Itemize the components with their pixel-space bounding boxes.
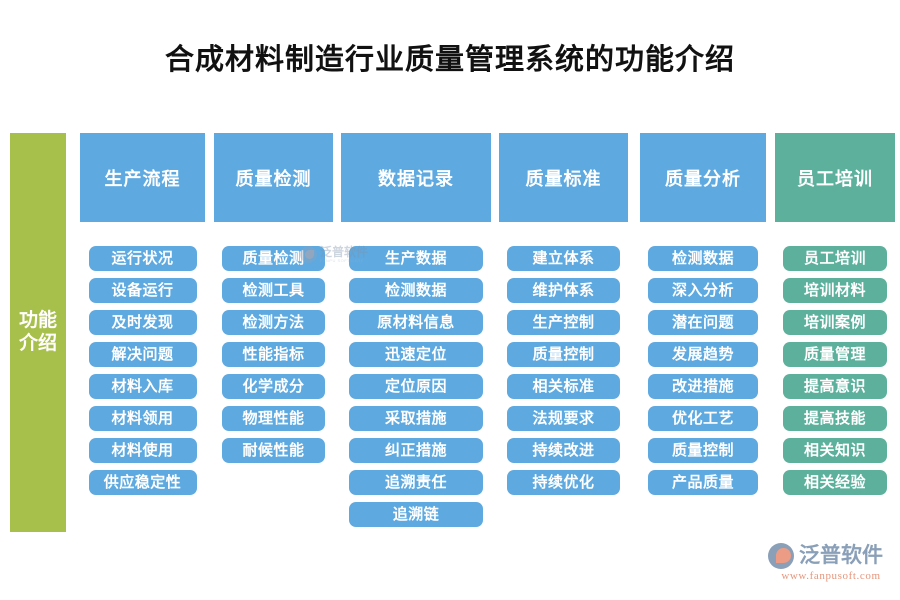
list-item[interactable]: 发展趋势	[648, 342, 758, 367]
column-header[interactable]: 质量检测	[214, 133, 333, 222]
column-staff-training: 员工培训 员工培训 培训材料 培训案例 质量管理 提高意识 提高技能 相关知识 …	[775, 133, 895, 495]
list-item[interactable]: 生产控制	[507, 310, 620, 335]
list-item[interactable]: 相关知识	[783, 438, 887, 463]
column-item-list: 检测数据 深入分析 潜在问题 发展趋势 改进措施 优化工艺 质量控制 产品质量	[640, 246, 766, 495]
list-item[interactable]: 优化工艺	[648, 406, 758, 431]
list-item[interactable]: 持续改进	[507, 438, 620, 463]
column-header[interactable]: 质量分析	[640, 133, 766, 222]
list-item[interactable]: 培训案例	[783, 310, 887, 335]
column-data-records: 数据记录 生产数据 检测数据 原材料信息 迅速定位 定位原因 采取措施 纠正措施…	[341, 133, 491, 527]
list-item[interactable]: 迅速定位	[349, 342, 483, 367]
list-item[interactable]: 纠正措施	[349, 438, 483, 463]
list-item[interactable]: 潜在问题	[648, 310, 758, 335]
list-item[interactable]: 生产数据	[349, 246, 483, 271]
brand-logo: 泛普软件 www.fanpusoft.com	[768, 543, 894, 587]
list-item[interactable]: 检测工具	[222, 278, 325, 303]
column-header[interactable]: 数据记录	[341, 133, 491, 222]
list-item[interactable]: 材料使用	[89, 438, 197, 463]
list-item[interactable]: 检测方法	[222, 310, 325, 335]
column-item-list: 建立体系 维护体系 生产控制 质量控制 相关标准 法规要求 持续改进 持续优化	[499, 246, 628, 495]
list-item[interactable]: 质量控制	[648, 438, 758, 463]
list-item[interactable]: 持续优化	[507, 470, 620, 495]
list-item[interactable]: 化学成分	[222, 374, 325, 399]
list-item[interactable]: 深入分析	[648, 278, 758, 303]
list-item[interactable]: 改进措施	[648, 374, 758, 399]
column-item-list: 质量检测 检测工具 检测方法 性能指标 化学成分 物理性能 耐候性能	[214, 246, 333, 463]
list-item[interactable]: 及时发现	[89, 310, 197, 335]
list-item[interactable]: 材料入库	[89, 374, 197, 399]
column-production-process: 生产流程 运行状况 设备运行 及时发现 解决问题 材料入库 材料领用 材料使用 …	[80, 133, 205, 495]
list-item[interactable]: 追溯链	[349, 502, 483, 527]
list-item[interactable]: 运行状况	[89, 246, 197, 271]
list-item[interactable]: 追溯责任	[349, 470, 483, 495]
list-item[interactable]: 员工培训	[783, 246, 887, 271]
column-quality-standard: 质量标准 建立体系 维护体系 生产控制 质量控制 相关标准 法规要求 持续改进 …	[499, 133, 628, 495]
list-item[interactable]: 原材料信息	[349, 310, 483, 335]
list-item[interactable]: 提高意识	[783, 374, 887, 399]
column-item-list: 生产数据 检测数据 原材料信息 迅速定位 定位原因 采取措施 纠正措施 追溯责任…	[341, 246, 491, 527]
list-item[interactable]: 质量管理	[783, 342, 887, 367]
column-header[interactable]: 员工培训	[775, 133, 895, 222]
column-header[interactable]: 质量标准	[499, 133, 628, 222]
column-header[interactable]: 生产流程	[80, 133, 205, 222]
list-item[interactable]: 法规要求	[507, 406, 620, 431]
column-container: 生产流程 运行状况 设备运行 及时发现 解决问题 材料入库 材料领用 材料使用 …	[0, 0, 900, 600]
brand-logo-icon	[768, 543, 794, 569]
list-item[interactable]: 培训材料	[783, 278, 887, 303]
list-item[interactable]: 检测数据	[648, 246, 758, 271]
brand-logo-text: 泛普软件	[799, 543, 883, 569]
list-item[interactable]: 耐候性能	[222, 438, 325, 463]
list-item[interactable]: 设备运行	[89, 278, 197, 303]
list-item[interactable]: 质量控制	[507, 342, 620, 367]
list-item[interactable]: 材料领用	[89, 406, 197, 431]
column-quality-analysis: 质量分析 检测数据 深入分析 潜在问题 发展趋势 改进措施 优化工艺 质量控制 …	[640, 133, 766, 495]
column-item-list: 运行状况 设备运行 及时发现 解决问题 材料入库 材料领用 材料使用 供应稳定性	[80, 246, 205, 495]
column-item-list: 员工培训 培训材料 培训案例 质量管理 提高意识 提高技能 相关知识 相关经验	[775, 246, 895, 495]
list-item[interactable]: 物理性能	[222, 406, 325, 431]
list-item[interactable]: 产品质量	[648, 470, 758, 495]
list-item[interactable]: 性能指标	[222, 342, 325, 367]
list-item[interactable]: 解决问题	[89, 342, 197, 367]
brand-logo-url: www.fanpusoft.com	[768, 570, 894, 582]
list-item[interactable]: 质量检测	[222, 246, 325, 271]
list-item[interactable]: 建立体系	[507, 246, 620, 271]
list-item[interactable]: 采取措施	[349, 406, 483, 431]
infographic-page: 合成材料制造行业质量管理系统的功能介绍 功能介绍 生产流程 运行状况 设备运行 …	[0, 0, 900, 600]
column-quality-inspection: 质量检测 质量检测 检测工具 检测方法 性能指标 化学成分 物理性能 耐候性能	[214, 133, 333, 463]
list-item[interactable]: 定位原因	[349, 374, 483, 399]
list-item[interactable]: 提高技能	[783, 406, 887, 431]
list-item[interactable]: 供应稳定性	[89, 470, 197, 495]
list-item[interactable]: 维护体系	[507, 278, 620, 303]
list-item[interactable]: 检测数据	[349, 278, 483, 303]
list-item[interactable]: 相关经验	[783, 470, 887, 495]
list-item[interactable]: 相关标准	[507, 374, 620, 399]
